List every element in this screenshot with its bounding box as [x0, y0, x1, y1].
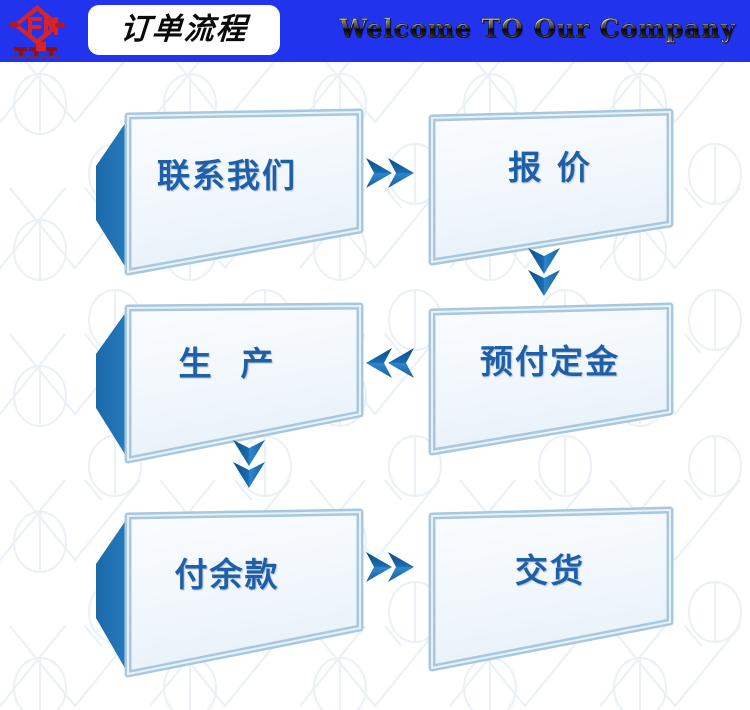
chevron-down-icon [233, 440, 265, 466]
flow-arrow-quotation-to-prepay [523, 246, 565, 308]
node-body [432, 306, 670, 452]
flowchart-canvas: 联系我们 报 价 [0, 62, 750, 710]
flow-node-prepay-deposit[interactable]: 预付定金 [424, 300, 676, 470]
flow-node-delivery[interactable]: 交货 [424, 502, 676, 677]
chevron-down-icon [528, 248, 560, 274]
flow-node-contact-us[interactable]: 联系我们 [88, 104, 366, 274]
page-header: 订单流程 Welcome TO Our Company [0, 0, 750, 62]
flow-arrow-production-to-balance [228, 438, 270, 500]
welcome-banner-text: Welcome TO Our Company [339, 14, 736, 43]
node-body [128, 112, 360, 272]
node-body [432, 112, 670, 262]
chevron-right-icon [366, 158, 392, 188]
page-title-badge: 订单流程 [88, 5, 280, 55]
flow-arrow-balance-to-delivery [364, 546, 428, 588]
chevron-left-icon [388, 348, 414, 378]
company-logo-icon [6, 2, 68, 60]
page-title: 订单流程 [119, 15, 249, 45]
flow-arrow-contact-to-quotation [364, 152, 428, 194]
order-process-flowchart-page: 订单流程 Welcome TO Our Company [0, 0, 750, 710]
flow-arrow-prepay-to-production [364, 342, 428, 384]
node-body [128, 512, 360, 674]
flow-node-pay-balance[interactable]: 付余款 [88, 502, 366, 677]
flow-node-production[interactable]: 生 产 [88, 300, 366, 470]
chevron-right-icon [366, 552, 392, 582]
